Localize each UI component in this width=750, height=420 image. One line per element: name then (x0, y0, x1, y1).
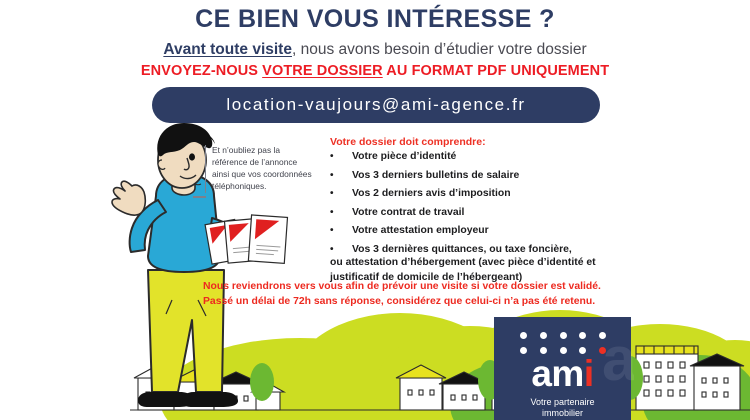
closing-line-2: Passé un délai de 72h sans réponse, cons… (203, 295, 683, 310)
callout-stem (193, 196, 206, 198)
list-item: • Vos 3 derniers bulletins de salaire (330, 171, 730, 181)
logo-dot (560, 332, 567, 339)
logo-dot (520, 347, 527, 354)
logo-wordmark-am: am (531, 353, 583, 394)
list-item-label: Votre contrat de travail (352, 208, 730, 218)
logo-dot-row (520, 332, 606, 339)
bullet-icon: • (330, 208, 352, 218)
list-item: • Vos 2 derniers avis d’imposition (330, 189, 730, 199)
list-item-label: Votre pièce d’identité (352, 152, 730, 162)
documents-heading: Votre dossier doit comprendre: (330, 136, 486, 148)
closing-line-1: Nous reviendrons vers vous afin de prévo… (203, 280, 683, 295)
logo-wordmark: ami (494, 355, 631, 392)
logo-dot-accent (599, 347, 606, 354)
logo-wordmark-i: i (584, 353, 594, 394)
bullet-icon: • (330, 189, 352, 199)
list-item: • Votre attestation employeur (330, 226, 730, 236)
email-address-text: location-vaujours@ami-agence.fr (226, 95, 525, 115)
documents-group (205, 215, 287, 264)
subtitle-rest: , nous avons besoin d’étudier votre doss… (292, 41, 587, 58)
documents-list: • Votre pièce d’identité • Vos 3 dernier… (330, 152, 730, 284)
pdf-notice: ENVOYEZ-NOUS VOTRE DOSSIER AU FORMAT PDF… (0, 63, 750, 79)
email-address-banner[interactable]: location-vaujours@ami-agence.fr (152, 87, 600, 123)
list-item: • Votre pièce d’identité (330, 152, 730, 162)
logo-dot (540, 332, 547, 339)
logo-dot (520, 332, 527, 339)
callout-note: Et n’oubliez pas la référence de l’annon… (205, 145, 312, 193)
list-item-label: Vos 3 dernières quittances, ou taxe fonc… (352, 245, 730, 255)
subtitle-emphasis: Avant toute visite (163, 41, 292, 58)
logo-tagline-line-2: immobilier (494, 408, 631, 419)
poster-subtitle: Avant toute visite, nous avons besoin d’… (0, 41, 750, 59)
pdf-notice-pre: ENVOYEZ-NOUS (141, 63, 262, 79)
bullet-icon: • (330, 171, 352, 181)
list-item-label: Vos 3 derniers bulletins de salaire (352, 171, 730, 181)
logo-dot (579, 332, 586, 339)
list-item: • Vos 3 dernières quittances, ou taxe fo… (330, 245, 730, 255)
eye (189, 153, 195, 160)
list-item-label: Votre attestation employeur (352, 226, 730, 236)
poster-root: CE BIEN VOUS INTÉRESSE ? Avant toute vis… (0, 0, 750, 420)
pdf-notice-underlined: VOTRE DOSSIER (262, 63, 383, 79)
raised-hand (112, 181, 145, 215)
logo-tagline: Votre partenaire immobilier (494, 397, 631, 420)
bullet-icon: • (330, 152, 352, 162)
shoe-right (182, 392, 238, 407)
list-item: • Votre contrat de travail (330, 208, 730, 218)
bullet-icon: • (330, 245, 352, 255)
poster-title: CE BIEN VOUS INTÉRESSE ? (0, 5, 750, 34)
pdf-notice-post: AU FORMAT PDF UNIQUEMENT (383, 63, 609, 79)
ami-logo[interactable]: a ami Votre partenaire immobilier (494, 317, 631, 420)
closing-note: Nous reviendrons vers vous afin de prévo… (203, 280, 683, 310)
bush-left (250, 363, 274, 401)
list-item-label: Vos 2 derniers avis d’imposition (352, 189, 730, 199)
list-item-continuation-1: ou attestation d’hébergement (avec pièce… (330, 256, 730, 269)
bullet-icon: • (330, 226, 352, 236)
logo-dot (599, 332, 606, 339)
logo-tagline-line-1: Votre partenaire (494, 397, 631, 408)
